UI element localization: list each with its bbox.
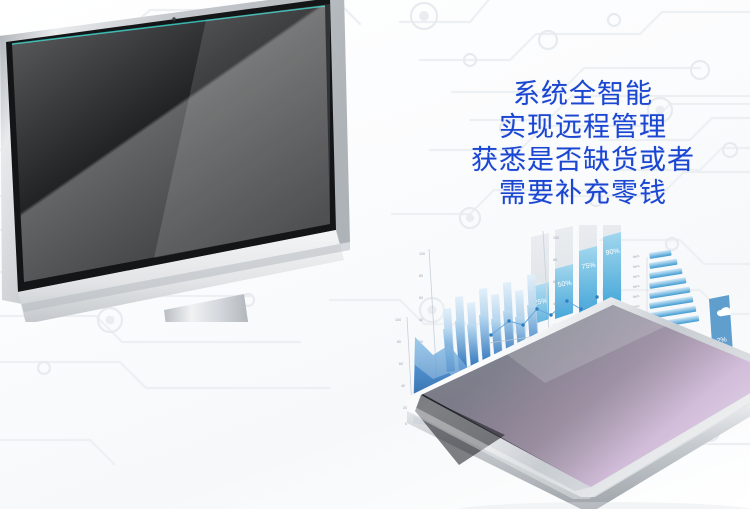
headline-line-4: 需要补充零钱	[424, 177, 742, 210]
headline-line-1: 系统全智能	[424, 78, 742, 111]
headline-line-2: 实现远程管理	[424, 111, 742, 144]
promo-banner: 25% 50% 75% 90%	[0, 0, 750, 509]
marketing-headline: 系统全智能 实现远程管理 获悉是否缺货或者 需要补充零钱	[424, 78, 742, 210]
monitor-frame	[0, 0, 378, 322]
smartphone-with-hologram: 25% 50% 75% 90%	[385, 225, 750, 509]
desktop-monitor	[0, 0, 378, 322]
smartphone-body	[385, 225, 750, 509]
headline-line-3: 获悉是否缺货或者	[424, 144, 742, 177]
